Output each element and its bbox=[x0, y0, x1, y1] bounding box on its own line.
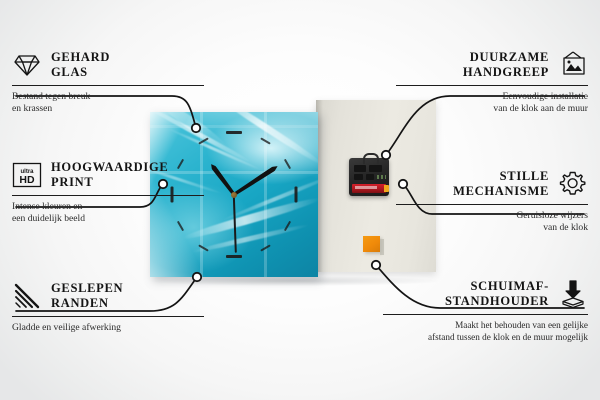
feature-header: DUURZAME HANDGREEP bbox=[396, 48, 588, 82]
clock-center-cap bbox=[231, 192, 237, 198]
feature-divider bbox=[12, 316, 204, 317]
clock-mechanism bbox=[349, 158, 389, 196]
mechanism-detail bbox=[354, 174, 363, 180]
feature-duurzame-handgreep: DUURZAME HANDGREEP Eenvoudige installati… bbox=[396, 48, 588, 116]
picture-hanger-icon bbox=[558, 50, 588, 80]
svg-text:HD: HD bbox=[19, 174, 35, 186]
clock-minute-hand bbox=[233, 164, 279, 197]
feature-header: SCHUIMAF- STANDHOUDER bbox=[383, 277, 588, 311]
feature-divider bbox=[396, 204, 588, 205]
battery bbox=[352, 184, 386, 193]
feature-description: Bestand tegen breuk en krassen bbox=[12, 91, 204, 116]
glass-reflection-line bbox=[264, 112, 267, 277]
feature-title: STILLE MECHANISME bbox=[453, 169, 549, 199]
feature-description: Geruisloze wijzers van de klok bbox=[396, 210, 588, 235]
gear-icon bbox=[558, 169, 588, 199]
feature-title: SCHUIMAF- STANDHOUDER bbox=[445, 279, 549, 309]
feature-title: GESLEPEN RANDEN bbox=[51, 281, 123, 311]
feature-description: Gladde en veilige afwerking bbox=[12, 322, 204, 334]
feature-header: GESLEPEN RANDEN bbox=[12, 279, 204, 313]
foam-spacer-pad bbox=[363, 236, 380, 252]
feature-divider bbox=[12, 195, 204, 196]
infographic-canvas: GEHARD GLAS Bestand tegen breuk en krass… bbox=[0, 0, 600, 400]
feature-divider bbox=[12, 85, 204, 86]
clock-tick bbox=[284, 158, 291, 169]
feature-divider bbox=[383, 314, 588, 315]
diamond-icon bbox=[12, 50, 42, 80]
feature-gehard-glas: GEHARD GLAS Bestand tegen breuk en krass… bbox=[12, 48, 204, 116]
feature-header: STILLE MECHANISME bbox=[396, 167, 588, 201]
feature-title: HOOGWAARDIGE PRINT bbox=[51, 160, 168, 190]
spacer-stack-icon bbox=[558, 279, 588, 309]
mechanism-contacts bbox=[377, 175, 386, 179]
mechanism-detail bbox=[369, 165, 382, 172]
feature-description: Intense kleuren en een duidelijk beeld bbox=[12, 201, 204, 226]
feature-divider bbox=[396, 85, 588, 86]
beveled-edges-icon bbox=[12, 281, 42, 311]
glass-reflection-line bbox=[150, 125, 318, 128]
mechanism-detail bbox=[366, 174, 374, 180]
feature-description: Eenvoudige installatie van de klok aan d… bbox=[396, 91, 588, 116]
feature-schuimafstandhouder: SCHUIMAF- STANDHOUDER Maakt het behouden… bbox=[383, 277, 588, 344]
feature-hoogwaardige-print: ultra HD HOOGWAARDIGE PRINT Intense kleu… bbox=[12, 158, 204, 226]
clock-tick bbox=[295, 187, 298, 203]
feature-geslepen-randen: GESLEPEN RANDEN Gladde en veilige afwerk… bbox=[12, 279, 204, 334]
feature-title: DUURZAME HANDGREEP bbox=[463, 50, 549, 80]
mechanism-detail bbox=[354, 165, 366, 172]
feature-header: GEHARD GLAS bbox=[12, 48, 204, 82]
clock-tick bbox=[226, 255, 242, 258]
feature-header: ultra HD HOOGWAARDIGE PRINT bbox=[12, 158, 204, 192]
feature-stille-mechanisme: STILLE MECHANISME Geruisloze wijzers van… bbox=[396, 167, 588, 235]
clock-tick bbox=[226, 131, 242, 134]
mechanism-hanger-icon bbox=[363, 153, 379, 164]
feature-title: GEHARD GLAS bbox=[51, 50, 110, 80]
ultra-hd-icon: ultra HD bbox=[12, 160, 42, 190]
battery-label-stripe bbox=[355, 186, 377, 189]
feature-description: Maakt het behouden van een gelijke afsta… bbox=[383, 320, 588, 344]
